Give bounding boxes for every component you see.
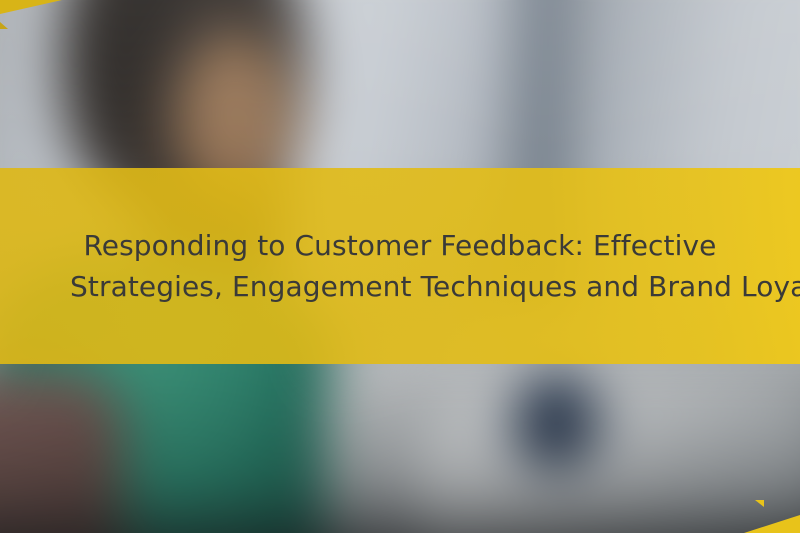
article-title-line-2: Strategies, Engagement Techniques and Br… — [70, 266, 730, 307]
article-title: Responding to Customer Feedback: Effecti… — [50, 225, 750, 307]
corner-triangle-top-left-accent-icon — [0, 22, 8, 29]
article-hero-card: Responding to Customer Feedback: Effecti… — [0, 0, 800, 533]
article-title-line-1: Responding to Customer Feedback: Effecti… — [70, 225, 730, 266]
corner-triangle-bottom-right-accent-icon — [755, 500, 764, 507]
corner-triangle-bottom-right-icon — [744, 515, 800, 533]
corner-triangle-top-left-icon — [0, 0, 62, 14]
title-banner: Responding to Customer Feedback: Effecti… — [0, 168, 800, 364]
